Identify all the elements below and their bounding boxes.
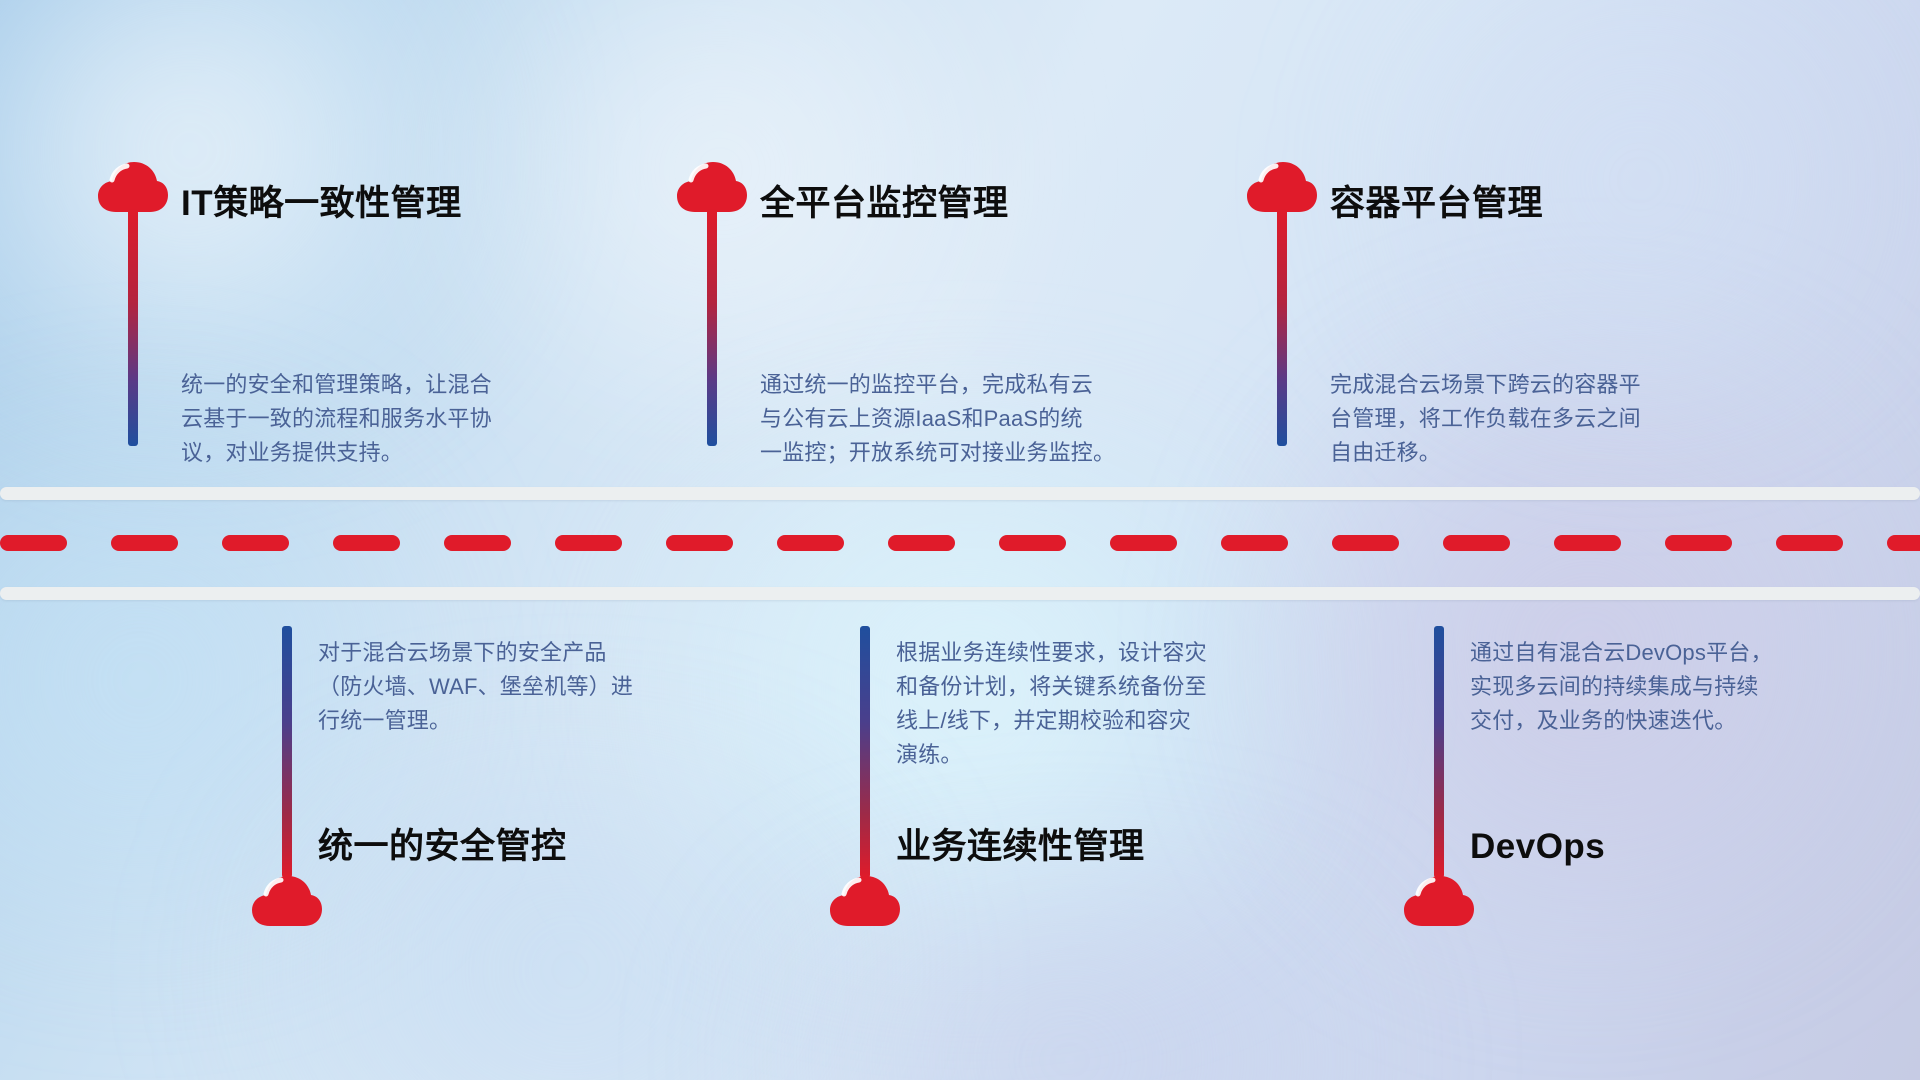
pin-it-policy-consistency[interactable]: IT策略一致性管理 统一的安全和管理策略，让混合 云基于一致的流程和服务水平协 …	[96, 160, 616, 490]
road-center-dashes	[0, 535, 1920, 551]
pin-body: 统一的安全和管理策略，让混合 云基于一致的流程和服务水平协 议，对业务提供支持。	[181, 368, 611, 470]
road-dash	[555, 535, 622, 551]
pin-body: 对于混合云场景下的安全产品 （防火墙、WAF、堡垒机等）进 行统一管理。	[318, 636, 748, 738]
pin-title: 统一的安全管控	[318, 829, 567, 864]
pin-devops[interactable]: 通过自有混合云DevOps平台， 实现多云间的持续集成与持续 交付，及业务的快速…	[1402, 626, 1902, 946]
pin-body: 通过统一的监控平台，完成私有云 与公有云上资源IaaS和PaaS的统 一监控；开…	[760, 368, 1230, 470]
road-dash	[888, 535, 955, 551]
cloud-pin-icon	[675, 160, 749, 214]
road-dash	[1443, 535, 1510, 551]
road-dash	[1110, 535, 1177, 551]
cloud-pin-icon	[1402, 874, 1476, 928]
road-dash	[333, 535, 400, 551]
road-dash	[1221, 535, 1288, 551]
pin-title: 业务连续性管理	[896, 829, 1145, 864]
road-dash	[222, 535, 289, 551]
pin-title: DevOps	[1470, 829, 1605, 864]
road-dash	[777, 535, 844, 551]
pin-unified-security[interactable]: 对于混合云场景下的安全产品 （防火墙、WAF、堡垒机等）进 行统一管理。 统一的…	[250, 626, 770, 946]
cloud-pin-icon	[96, 160, 170, 214]
pin-stem	[707, 208, 717, 446]
cloud-pin-icon	[828, 874, 902, 928]
cloud-pin-icon	[250, 874, 324, 928]
pin-body: 根据业务连续性要求，设计容灾 和备份计划，将关键系统备份至 线上/线下，并定期校…	[896, 636, 1326, 772]
pin-container-platform[interactable]: 容器平台管理 完成混合云场景下跨云的容器平 台管理，将工作负载在多云之间 自由迁…	[1245, 160, 1785, 490]
road-dash	[1332, 535, 1399, 551]
road-edge-bottom	[0, 587, 1920, 600]
pin-full-platform-monitoring[interactable]: 全平台监控管理 通过统一的监控平台，完成私有云 与公有云上资源IaaS和PaaS…	[675, 160, 1195, 490]
road-divider	[0, 487, 1920, 607]
road-dash	[1554, 535, 1621, 551]
pin-stem	[282, 626, 292, 878]
pin-stem	[860, 626, 870, 878]
pin-stem	[128, 208, 138, 446]
road-dash	[0, 535, 67, 551]
road-dash	[444, 535, 511, 551]
pin-body: 完成混合云场景下跨云的容器平 台管理，将工作负载在多云之间 自由迁移。	[1330, 368, 1780, 470]
road-dash	[999, 535, 1066, 551]
pin-stem	[1434, 626, 1444, 878]
pin-business-continuity[interactable]: 根据业务连续性要求，设计容灾 和备份计划，将关键系统备份至 线上/线下，并定期校…	[828, 626, 1348, 946]
pin-title: 全平台监控管理	[760, 186, 1009, 221]
pin-title: 容器平台管理	[1330, 186, 1543, 221]
road-dash	[1776, 535, 1843, 551]
cloud-pin-icon	[1245, 160, 1319, 214]
pin-title: IT策略一致性管理	[181, 186, 462, 221]
road-dash	[666, 535, 733, 551]
road-dash	[1665, 535, 1732, 551]
road-dash	[1887, 535, 1920, 551]
pin-stem	[1277, 208, 1287, 446]
road-dash	[111, 535, 178, 551]
pin-body: 通过自有混合云DevOps平台， 实现多云间的持续集成与持续 交付，及业务的快速…	[1470, 636, 1890, 738]
